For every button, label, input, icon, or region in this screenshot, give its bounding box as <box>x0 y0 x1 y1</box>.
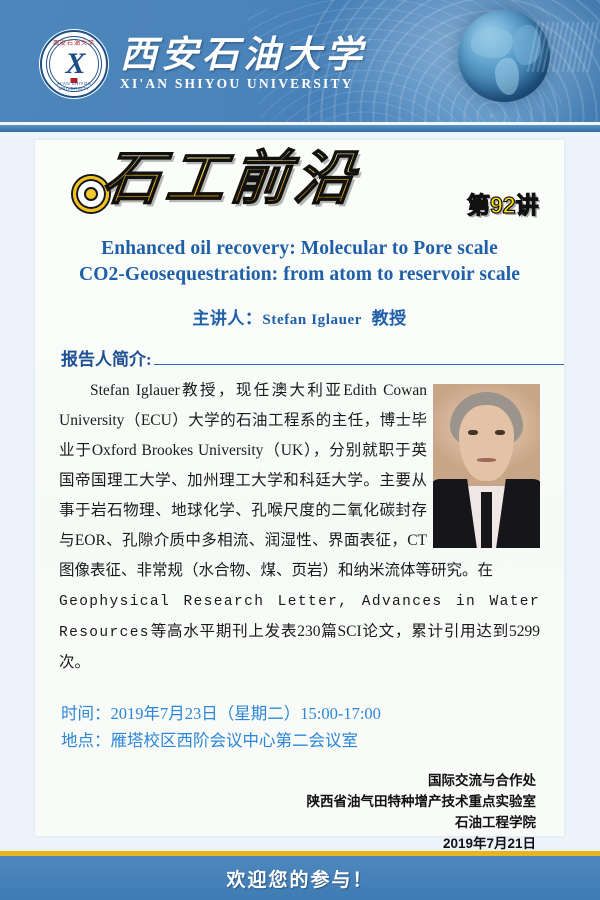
english-title-line1: Enhanced oil recovery: Molecular to Pore… <box>35 236 564 262</box>
bio-heading: 报告人简介: <box>61 345 564 370</box>
speaker-label: 主讲人： <box>192 309 262 328</box>
signature-line-1: 国际交流与合作处 <box>35 770 536 791</box>
speaker-line: 主讲人：Stefan Iglauer 教授 <box>35 304 564 329</box>
bio-heading-rule <box>154 364 564 365</box>
footer-welcome-text: 欢迎您的参与！ <box>0 865 600 892</box>
page-footer: 欢迎您的参与！ <box>0 856 600 900</box>
speaker-rank: 教授 <box>372 309 407 328</box>
seal-arc-bottom-text: XI'AN SHIYOU UNIVERSITY <box>42 81 106 91</box>
university-wordmark: 西安石油大学 XI'AN SHIYOU UNIVERSITY <box>120 37 366 91</box>
event-place-row: 地点：雁塔校区西阶会议中心第二会议室 <box>61 727 564 754</box>
lecture-number-badge: 第92讲 <box>467 186 539 220</box>
series-title-cn: 石工前沿 <box>99 150 362 208</box>
english-title-line2: CO2-Geosequestration: from atom to reser… <box>35 262 564 288</box>
portrait-eye-left <box>468 430 478 435</box>
event-details: 时间：2019年7月23日（星期二）15:00-17:00 地点：雁塔校区西阶会… <box>61 700 564 754</box>
series-title-block: 石工前沿 第92讲 <box>35 144 564 230</box>
university-seal-icon: 西安石油大学 X XI'AN SHIYOU UNIVERSITY <box>40 30 108 98</box>
university-name-en: XI'AN SHIYOU UNIVERSITY <box>120 77 366 91</box>
header-accent-stripe <box>0 125 600 132</box>
page-header: 西安石油大学 X XI'AN SHIYOU UNIVERSITY 西安石油大学 … <box>0 0 600 122</box>
event-place-value: 雁塔校区西阶会议中心第二会议室 <box>111 731 359 750</box>
seal-monogram: X <box>65 47 82 81</box>
content-panel: 石工前沿 第92讲 Enhanced oil recovery: Molecul… <box>35 140 564 836</box>
event-time-label: 时间： <box>61 704 111 723</box>
portrait-eye-right <box>495 430 505 435</box>
speaker-name: Stefan Iglauer <box>262 312 362 328</box>
university-name-cn: 西安石油大学 <box>120 37 366 74</box>
bio-body: Stefan Iglauer教授，现任澳大利亚Edith Cowan Unive… <box>59 376 540 586</box>
event-place-label: 地点： <box>61 731 111 750</box>
portrait-mouth <box>477 458 496 462</box>
university-logo: 西安石油大学 X XI'AN SHIYOU UNIVERSITY 西安石油大学 … <box>40 30 366 98</box>
event-time-row: 时间：2019年7月23日（星期二）15:00-17:00 <box>61 700 564 727</box>
portrait-face <box>459 405 515 480</box>
bio-paragraph-continued: Geophysical Research Letter, Advances in… <box>59 586 540 678</box>
signature-line-3: 石油工程学院 <box>35 812 536 833</box>
bio-heading-text: 报告人简介: <box>61 345 152 370</box>
poster-root: 西安石油大学 X XI'AN SHIYOU UNIVERSITY 西安石油大学 … <box>0 0 600 900</box>
event-time-value: 2019年7月23日（星期二）15:00-17:00 <box>111 704 381 723</box>
binary-code-decoration-icon <box>527 22 600 72</box>
speaker-portrait <box>433 384 540 548</box>
signature-line-2: 陕西省油气田特种增产技术重点实验室 <box>35 791 536 812</box>
portrait-tie <box>481 492 492 548</box>
seal-arc-top-text: 西安石油大学 <box>42 38 106 47</box>
english-title: Enhanced oil recovery: Molecular to Pore… <box>35 236 564 288</box>
signature-block: 国际交流与合作处 陕西省油气田特种增产技术重点实验室 石油工程学院 2019年7… <box>35 770 536 854</box>
